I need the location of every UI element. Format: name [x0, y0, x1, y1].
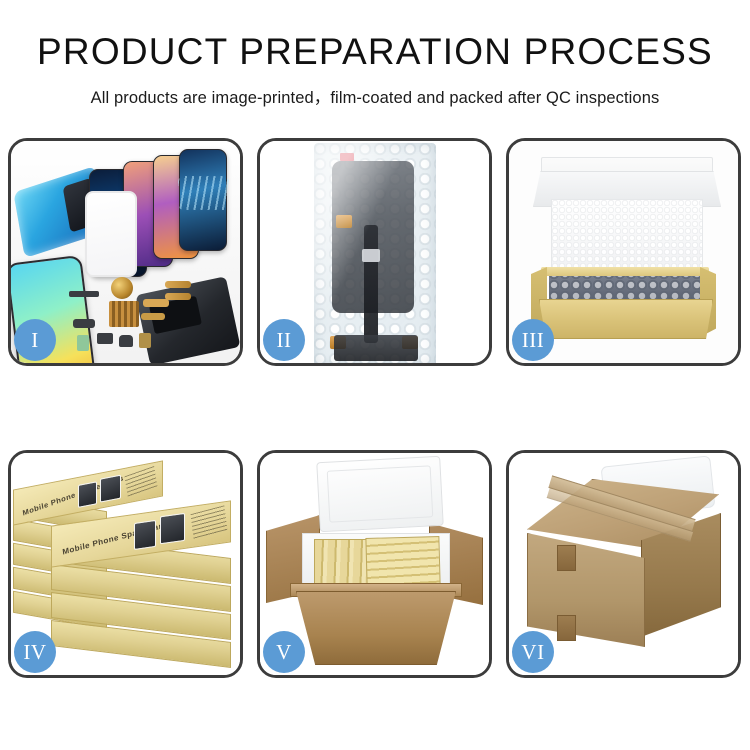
part-camera-icon [119, 335, 133, 347]
page-title: PRODUCT PREPARATION PROCESS [0, 30, 750, 74]
part-flex-cable-2 [141, 313, 165, 320]
page-subtitle: All products are image-printed，film-coat… [0, 84, 750, 108]
part-strip-2 [73, 319, 95, 328]
retail-box-window-front-2 [160, 513, 185, 545]
retail-box-window-front-1 [134, 520, 156, 550]
panel-sealed-shipping-carton[interactable]: Sealed brown corrugated shipping carton … [506, 450, 741, 678]
driver-ic-chip [362, 249, 380, 262]
part-flex-cable-1 [143, 299, 169, 307]
retail-box-checklist-back [124, 466, 157, 498]
panel-badge-5: V [263, 631, 305, 673]
screen-flex-cable [364, 225, 378, 343]
carton-front-panel [296, 591, 456, 665]
panel-products-overview[interactable]: Assorted mobile phones, LCD screens, tem… [8, 138, 243, 366]
kraft-box-top-edge [541, 267, 709, 276]
white-foam-sheet [551, 199, 703, 269]
part-battery-icon [77, 335, 89, 351]
part-flex-cable-4 [165, 293, 191, 300]
pink-tape-marker [340, 153, 354, 161]
part-flex-cable-3 [165, 281, 191, 288]
panel-foam-carton-packing[interactable]: Cardboard carton with white foam cooler … [257, 450, 492, 678]
speaker-coil-icon [111, 277, 133, 299]
screen-bottom-bracket [334, 335, 418, 361]
kraft-box-front-panel [539, 299, 713, 339]
panel-badge-3: III [512, 319, 554, 361]
process-panel-grid: Assorted mobile phones, LCD screens, tem… [8, 138, 742, 678]
panel-badge-4: IV [14, 631, 56, 673]
panel-stacked-retail-boxes[interactable]: Mobile Phone Spare Parts Mobile Phone Sp… [8, 450, 243, 678]
carton-tab-lower [557, 615, 576, 641]
retail-box-window-back-1 [78, 481, 97, 508]
panel-badge-2: II [263, 319, 305, 361]
carton-tab-upper [557, 545, 576, 571]
tempered-glass-panel [85, 191, 137, 277]
panel-open-kraft-box[interactable]: Open yellow kraft box lined with white f… [506, 138, 741, 366]
part-strip-1 [69, 291, 99, 297]
connector-chip-icon [109, 301, 139, 327]
retail-box-checklist-front [191, 505, 228, 539]
yellow-boxes-inside-foam-2 [365, 536, 440, 586]
connector-gold-left [336, 215, 352, 228]
header: PRODUCT PREPARATION PROCESS All products… [0, 0, 750, 108]
panel-badge-6: VI [512, 631, 554, 673]
phone-device-d [179, 149, 227, 251]
panel-bubble-wrapped-screen[interactable]: Single LCD screen assembly sealed in bub… [257, 138, 492, 366]
spare-parts-cluster [69, 277, 193, 357]
retail-box-window-back-2 [100, 475, 121, 503]
bubble-wrap-sleeve [314, 143, 436, 363]
foam-cooler-lid [316, 456, 443, 532]
panel-badge-1: I [14, 319, 56, 361]
part-strip-3 [97, 333, 113, 344]
part-vibrator-icon [139, 333, 151, 348]
